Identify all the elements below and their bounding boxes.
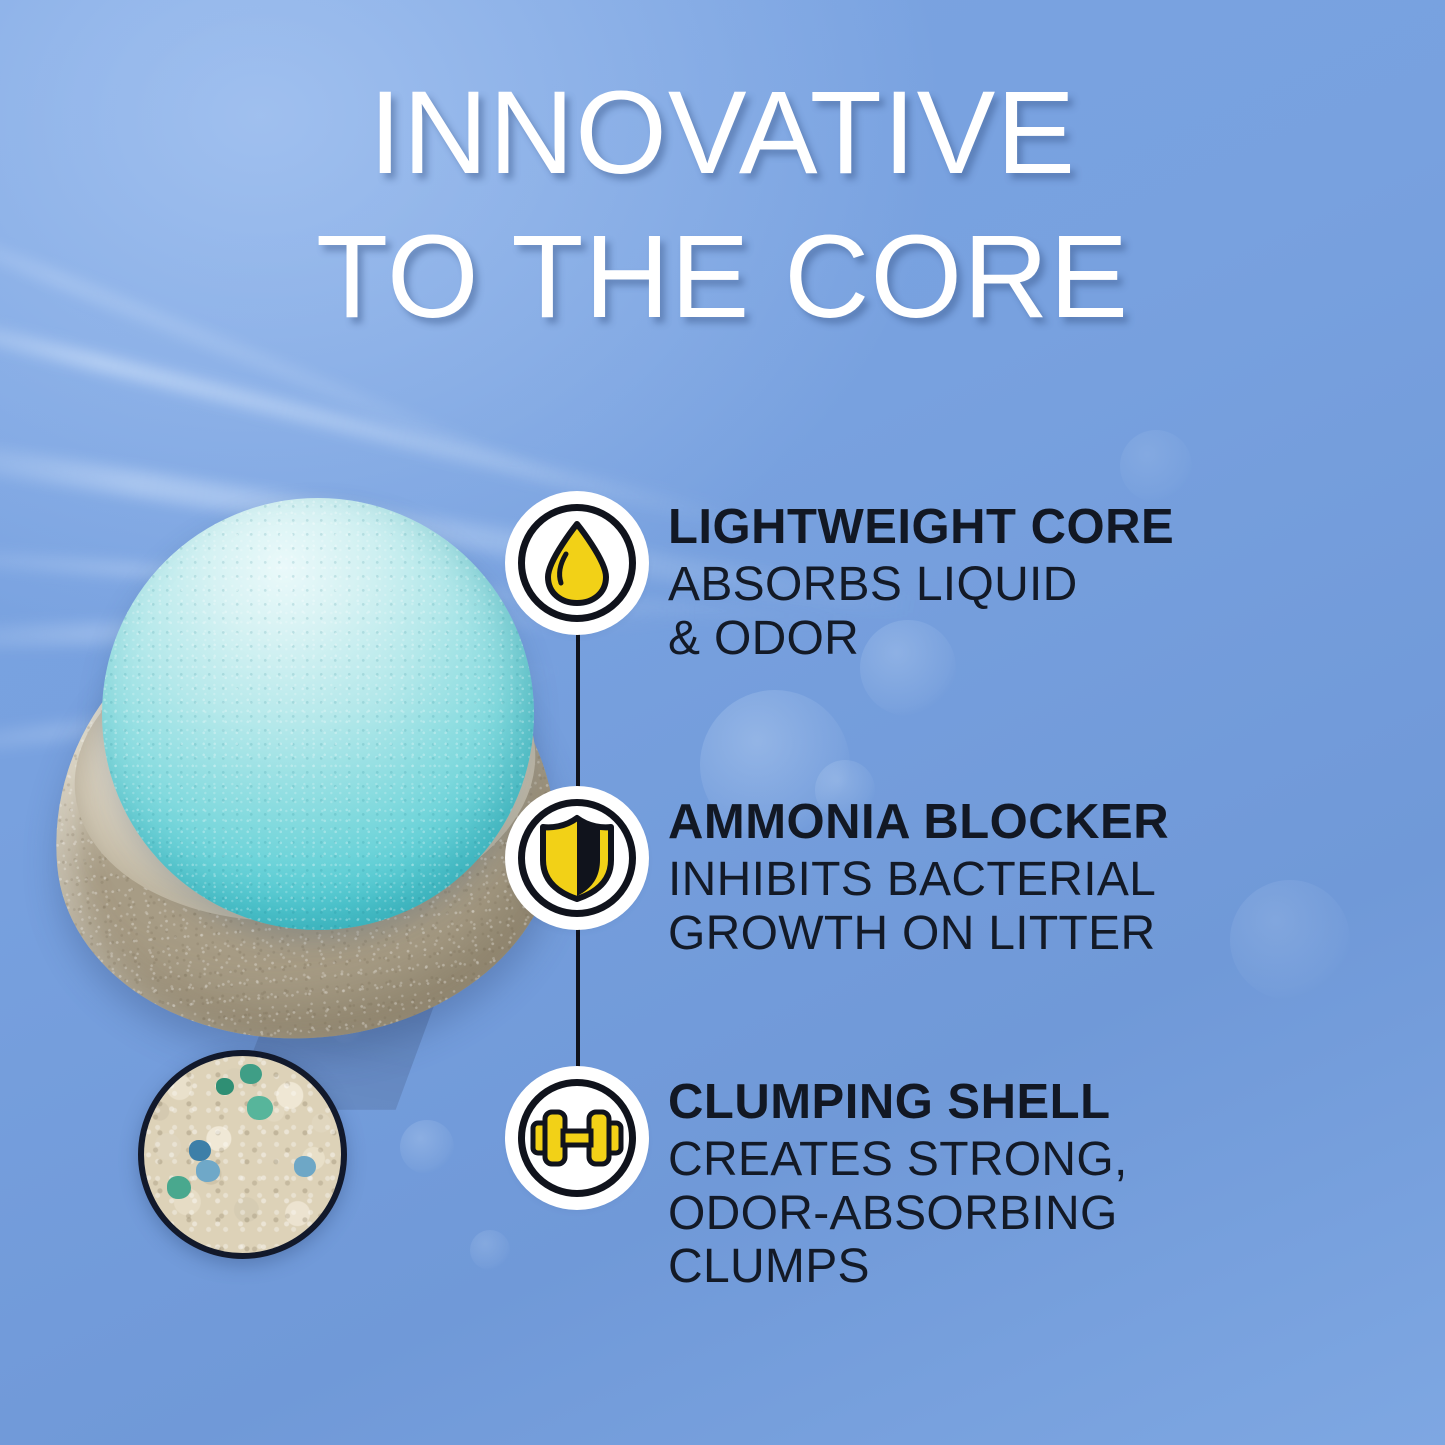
bokeh-circle bbox=[1120, 430, 1192, 502]
feature-body: INHIBITS BACTERIAL GROWTH ON LITTER bbox=[668, 853, 1169, 961]
feature-lightweight-core: LIGHTWEIGHT CORE ABSORBS LIQUID & ODOR bbox=[512, 498, 1174, 665]
feature-body: CREATES STRONG, ODOR-ABSORBING CLUMPS bbox=[668, 1133, 1128, 1294]
bokeh-circle bbox=[400, 1120, 454, 1174]
colored-granule bbox=[216, 1078, 234, 1095]
feature-text: LIGHTWEIGHT CORE ABSORBS LIQUID & ODOR bbox=[668, 498, 1174, 665]
feature-ammonia-blocker: AMMONIA BLOCKER INHIBITS BACTERIAL GROWT… bbox=[512, 793, 1169, 960]
colored-granule bbox=[247, 1096, 273, 1120]
colored-granule bbox=[294, 1156, 316, 1177]
bokeh-circle bbox=[470, 1230, 510, 1270]
colored-granule bbox=[189, 1140, 211, 1161]
colored-granule bbox=[196, 1160, 220, 1182]
feature-heading: LIGHTWEIGHT CORE bbox=[668, 502, 1174, 554]
colored-granule bbox=[167, 1176, 191, 1199]
shield-icon bbox=[512, 793, 642, 923]
infographic-canvas: INNOVATIVE TO THE CORE LIGHTWEIGHT CORE … bbox=[0, 0, 1445, 1445]
droplet-icon bbox=[512, 498, 642, 628]
feature-text: CLUMPING SHELL CREATES STRONG, ODOR-ABSO… bbox=[668, 1073, 1128, 1294]
lightweight-core-layer bbox=[102, 498, 534, 930]
page-title: INNOVATIVE TO THE CORE bbox=[0, 62, 1445, 350]
feature-body: ABSORBS LIQUID & ODOR bbox=[668, 558, 1174, 666]
feature-text: AMMONIA BLOCKER INHIBITS BACTERIAL GROWT… bbox=[668, 793, 1169, 960]
bokeh-circle bbox=[1230, 880, 1350, 1000]
feature-heading: AMMONIA BLOCKER bbox=[668, 797, 1169, 849]
feature-clumping-shell: CLUMPING SHELL CREATES STRONG, ODOR-ABSO… bbox=[512, 1073, 1128, 1294]
dumbbell-icon bbox=[512, 1073, 642, 1203]
colored-granule bbox=[240, 1064, 262, 1084]
feature-heading: CLUMPING SHELL bbox=[668, 1077, 1128, 1129]
litter-granules-circle bbox=[138, 1050, 347, 1259]
